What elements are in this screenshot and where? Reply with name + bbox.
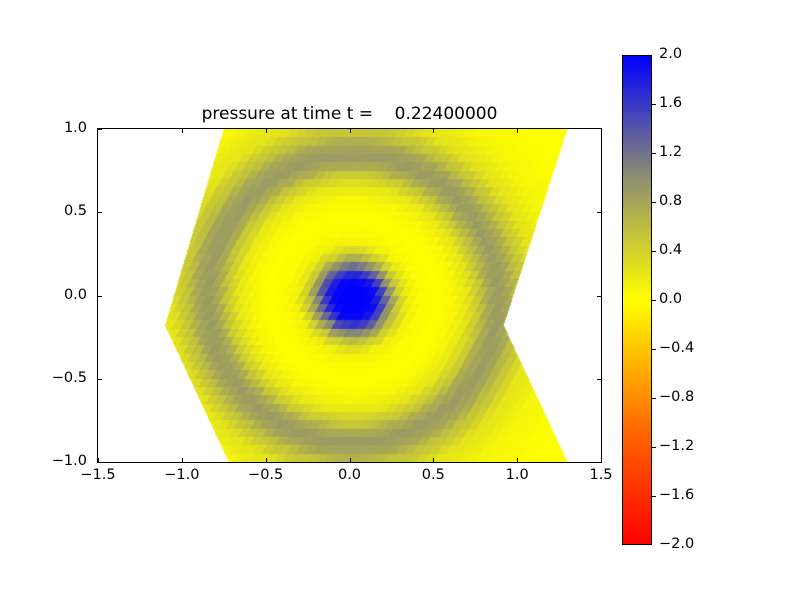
pressure-heatmap (98, 129, 601, 462)
colorbar-tick (652, 398, 656, 399)
colorbar-tick-label: −2.0 (659, 536, 694, 553)
colorbar-tick-label: 0.8 (659, 193, 682, 210)
y-tick (98, 129, 102, 130)
y-tick-label: 0.5 (27, 203, 87, 220)
x-tick (433, 458, 434, 462)
x-tick (517, 129, 518, 133)
y-tick (98, 462, 102, 463)
x-tick-label: −1.0 (152, 467, 212, 484)
y-tick (597, 379, 601, 380)
plot-title: pressure at time t = 0.22400000 (97, 104, 602, 124)
x-tick (350, 458, 351, 462)
y-tick-label: 1.0 (27, 120, 87, 137)
x-tick (182, 458, 183, 462)
y-tick (597, 296, 601, 297)
colorbar-tick-label: −1.2 (659, 438, 694, 455)
x-tick (601, 458, 602, 462)
x-tick (266, 129, 267, 133)
colorbar-tick-label: 1.6 (659, 95, 682, 112)
colorbar-tick (652, 496, 656, 497)
colorbar-tick (652, 447, 656, 448)
figure-canvas: pressure at time t = 0.22400000 −1.5−1.0… (0, 0, 800, 600)
y-tick (597, 212, 601, 213)
x-tick-label: 0.5 (403, 467, 463, 484)
colorbar-tick-label: 0.4 (659, 242, 682, 259)
colorbar-tick-label: −0.4 (659, 340, 694, 357)
colorbar-tick (652, 300, 656, 301)
colorbar-tick-label: 0.0 (659, 291, 682, 308)
x-tick (266, 458, 267, 462)
y-tick-label: −0.5 (27, 370, 87, 387)
colorbar-tick (652, 349, 656, 350)
y-tick-label: −1.0 (27, 453, 87, 470)
colorbar-tick (652, 104, 656, 105)
colorbar-tick-label: 2.0 (659, 46, 682, 63)
y-tick-label: 0.0 (27, 287, 87, 304)
colorbar-tick (652, 251, 656, 252)
y-tick (98, 212, 102, 213)
y-tick (98, 379, 102, 380)
x-tick (182, 129, 183, 133)
y-tick (98, 296, 102, 297)
x-tick-label: −0.5 (236, 467, 296, 484)
x-tick (350, 129, 351, 133)
colorbar-tick (652, 202, 656, 203)
colorbar-tick (652, 153, 656, 154)
colorbar-tick-label: −1.6 (659, 487, 694, 504)
x-tick-label: 1.0 (487, 467, 547, 484)
x-tick (433, 129, 434, 133)
x-tick (517, 458, 518, 462)
x-tick-label: 0.0 (320, 467, 380, 484)
colorbar-tick-label: −0.8 (659, 389, 694, 406)
colorbar (622, 55, 652, 545)
colorbar-tick-label: 1.2 (659, 144, 682, 161)
main-axes (97, 128, 602, 463)
colorbar-gradient (622, 55, 652, 545)
